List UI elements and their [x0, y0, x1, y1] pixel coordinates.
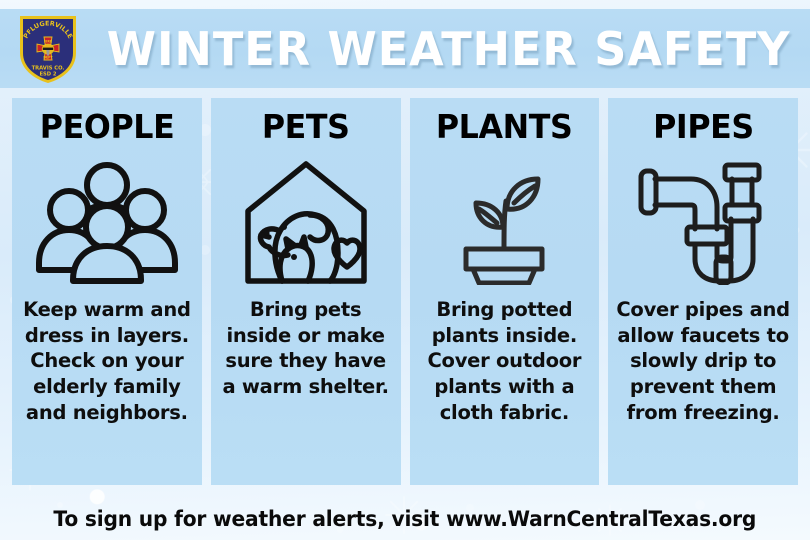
winter-weather-safety-poster: PFLUGERVILLE FIRE DEPT TRAVIS CO. ESD 2 …: [0, 0, 810, 540]
badge-container: PFLUGERVILLE FIRE DEPT TRAVIS CO. ESD 2: [0, 9, 96, 88]
category-card-pipes: PIPES: [608, 98, 798, 485]
category-body-pipes: Cover pipes and allow faucets to slowly …: [608, 287, 798, 427]
category-card-plants: PLANTS Bring potted plants ins: [410, 98, 600, 485]
pflugerville-fire-department-badge: PFLUGERVILLE FIRE DEPT TRAVIS CO. ESD 2: [17, 13, 79, 85]
category-body-people: Keep warm and dress in layers. Check on …: [12, 287, 202, 427]
category-body-plants: Bring potted plants inside. Cover outdoo…: [410, 287, 600, 427]
pets-in-house-icon: [211, 155, 401, 287]
svg-text:ESD 2: ESD 2: [39, 71, 56, 77]
svg-text:TRAVIS CO.: TRAVIS CO.: [32, 65, 65, 71]
page-title: WINTER WEATHER SAFETY: [107, 26, 804, 72]
potted-plant-icon: [410, 155, 600, 287]
plumbing-pipe-icon: [608, 155, 798, 287]
category-title-plants: PLANTS: [436, 110, 573, 145]
safety-categories-grid: PEOPLE Keep warm and dress in: [12, 98, 798, 485]
category-card-people: PEOPLE Keep warm and dress in: [12, 98, 202, 485]
category-card-pets: PETS: [211, 98, 401, 485]
weather-alerts-signup-text: To sign up for weather alerts, visit www…: [54, 507, 757, 532]
poster-footer: To sign up for weather alerts, visit www…: [0, 498, 810, 540]
category-title-pipes: PIPES: [653, 110, 754, 145]
category-title-pets: PETS: [262, 110, 350, 145]
category-title-people: PEOPLE: [40, 110, 175, 145]
group-of-people-icon: [12, 155, 202, 287]
category-body-pets: Bring pets inside or make sure they have…: [211, 287, 401, 401]
poster-header: PFLUGERVILLE FIRE DEPT TRAVIS CO. ESD 2 …: [0, 9, 810, 88]
svg-text:DEPT: DEPT: [43, 55, 53, 59]
svg-text:FIRE: FIRE: [44, 39, 52, 43]
